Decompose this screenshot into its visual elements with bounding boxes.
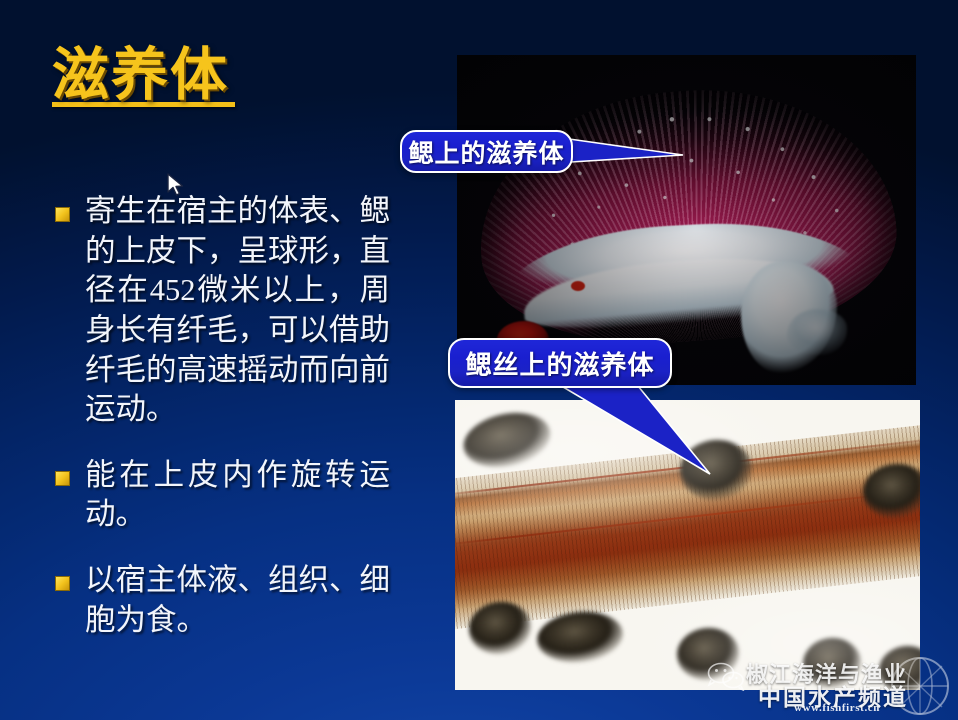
bullet-square-icon — [55, 471, 70, 486]
callout-filament-trophont[interactable]: 鳃丝上的滋养体 — [448, 338, 672, 388]
gill-arch-tail — [787, 309, 847, 355]
bullet-text: 以宿主体液、组织、细胞为食。 — [85, 561, 390, 640]
trophont-cyst — [801, 636, 863, 690]
list-item: 以宿主体液、组织、细胞为食。 — [55, 561, 390, 640]
callout-label: 鳃丝上的滋养体 — [465, 345, 654, 382]
gill-filament-micrograph — [455, 400, 920, 690]
callout-gill-trophont[interactable]: 鳃上的滋养体 — [400, 130, 573, 173]
page-title: 滋养体 — [52, 46, 382, 106]
callout-label: 鳃上的滋养体 — [408, 134, 564, 170]
gill-arch-illustration — [475, 85, 899, 361]
bullet-text: 寄生在宿主的体表、鳃的上皮下，呈球形，直径在452微米以上，周身长有纤毛，可以借… — [85, 192, 390, 430]
bullet-square-icon — [55, 207, 70, 222]
trophont-cyst — [675, 625, 741, 682]
bullet-text: 能在上皮内作旋转运动。 — [85, 456, 390, 535]
list-item: 寄生在宿主的体表、鳃的上皮下，呈球形，直径在452微米以上，周身长有纤毛，可以借… — [55, 192, 390, 430]
bullet-list: 寄生在宿主的体表、鳃的上皮下，呈球形，直径在452微米以上，周身长有纤毛，可以借… — [55, 192, 390, 666]
list-item: 能在上皮内作旋转运动。 — [55, 456, 390, 535]
trophont-cyst — [459, 405, 556, 474]
gill-arch-photo — [457, 55, 916, 385]
trophont-cyst — [877, 644, 920, 690]
bullet-square-icon — [55, 576, 70, 591]
title-block: 滋养体 — [52, 46, 382, 107]
watermark-url: www.fishfirst.cn — [794, 702, 880, 714]
presentation-slide: 滋养体 寄生在宿主的体表、鳃的上皮下，呈球形，直径在452微米以上，周身长有纤毛… — [0, 0, 958, 720]
blood-spot — [571, 281, 585, 291]
